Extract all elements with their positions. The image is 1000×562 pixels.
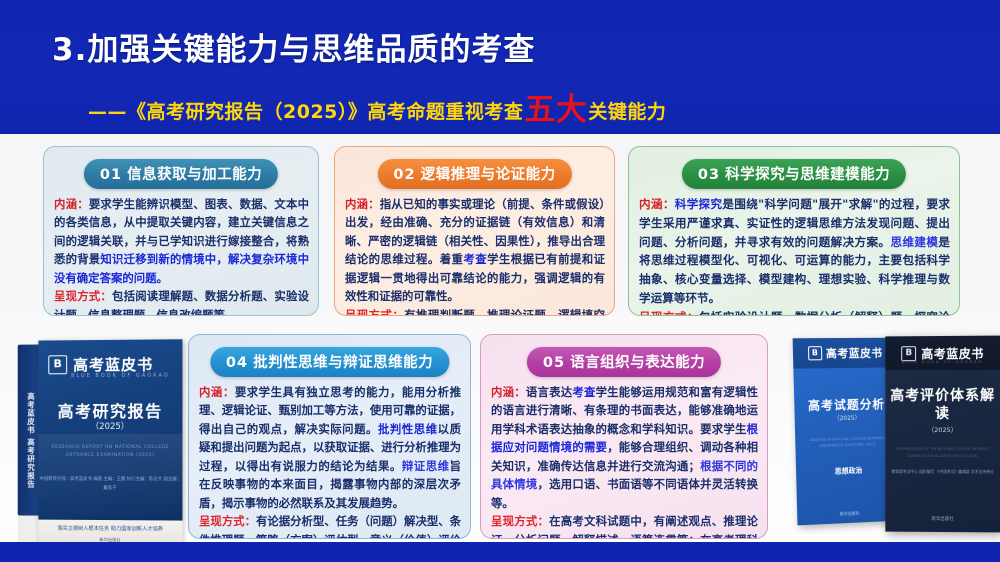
book-spine-text: 高考蓝皮书 高考研究报告 — [20, 392, 37, 489]
card-05-title: 语言组织与表达能力 — [570, 355, 705, 371]
card-05-connotation-highlight-0: 考查 — [572, 385, 595, 399]
subtitle-emphasis: 五大 — [524, 98, 587, 123]
card-05-number: 05 — [543, 355, 565, 371]
card-03-title: 科学探究与思维建模能力 — [725, 167, 890, 183]
header-band: 3.加强关键能力与思维品质的考查 ——《高考研究报告（2025）》高考命题重视考… — [0, 0, 1000, 134]
card-03-form: 呈现方式：包括实验设计题、数据分析（解释）题、探究论证题、问题解决（应用）题等。 — [639, 308, 950, 316]
book-year: （2025） — [38, 420, 182, 432]
card-03-connotation-highlight-2: 思维建模 — [890, 235, 938, 249]
card-05-form-label: 呈现方式： — [491, 514, 549, 528]
card-03-title-pill: 03科学探究与思维建模能力 — [682, 159, 906, 189]
card-03-number: 03 — [698, 167, 720, 183]
card-04-title-pill: 04批判性思维与辩证思维能力 — [210, 347, 449, 377]
book-brand-en: BLUE BOOK OF GAOKAO — [71, 373, 170, 380]
book-subject-label: 思想政治 — [796, 464, 900, 478]
card-02-connotation-highlight: 考查 — [463, 252, 487, 266]
card-03-connotation: 内涵：科学探究是围绕"科学问题"展开"求解"的过程，要求学生采用严谨求真、实证性… — [639, 195, 950, 308]
card-05-connotation-text: 语言表达 — [526, 385, 572, 399]
card-03-connotation-highlight: 科学探究 — [675, 197, 723, 211]
card-04-connotation-highlight: 批判性思维 — [378, 422, 438, 436]
book-brand-en: BLUE BOOK OF GAOKAO — [885, 360, 1000, 365]
card-04-body: 内涵：要求学生具有独立思考的能力，能用分析推理、逻辑论证、甄别加工等方法，使用可… — [199, 383, 461, 539]
blue-book-logo-icon: B — [808, 346, 822, 360]
book-spine-bottom — [18, 515, 39, 544]
page-title: 3.加强关键能力与思维品质的考查 — [52, 24, 535, 69]
card-01-connotation: 内涵：要求学生能辨识模型、图表、数据、文本中的各类信息，从中提取关键内容，建立关… — [54, 195, 309, 287]
card-02-connotation: 内涵：指从已知的事实或理论（前提、条件或假设）出发，经由准确、充分的证据链（有效… — [345, 195, 605, 306]
card-01-form: 呈现方式：包括阅读理解题、数据分析题、实验设计题、信息整理题、信息改编题等。 — [54, 287, 309, 316]
book-slogan: 落实立德树人根本任务 助力国家创新人才培养 — [38, 525, 182, 535]
blue-book-logo-icon: B — [901, 346, 916, 361]
book-brand-cn: 高考蓝皮书 — [826, 345, 883, 361]
card-04-form: 呈现方式：有论据分析型、任务（问题）解决型、条件推理题、策略（方案）评估型、意义… — [199, 512, 461, 539]
card-04-connotation: 内涵：要求学生具有独立思考的能力，能用分析推理、逻辑论证、甄别加工等方法，使用可… — [199, 383, 461, 512]
book-english-title: ANALYSIS OF NATIONAL COLLEGE ENTRANCE EX… — [799, 435, 895, 450]
card-05-connotation-label: 内涵： — [491, 385, 526, 399]
book-year: （2025） — [885, 424, 1000, 434]
card-02-title: 逻辑推理与论证能力 — [421, 167, 556, 183]
card-01-body: 内涵：要求学生能辨识模型、图表、数据、文本中的各类信息，从中提取关键内容，建立关… — [54, 195, 309, 316]
capability-card-03[interactable]: 03科学探究与思维建模能力 内涵：科学探究是围绕"科学问题"展开"求解"的过程，… — [628, 146, 960, 316]
card-02-form-label: 呈现方式： — [345, 308, 404, 316]
card-04-number: 04 — [226, 355, 248, 371]
book-front-cover: B 高考蓝皮书 BLUE BOOK OF GAOKAO 高考研究报告 （2025… — [38, 339, 182, 520]
card-04-form-label: 呈现方式： — [199, 514, 256, 528]
subtitle-suffix: 关键能力 — [588, 97, 666, 124]
blue-book-logo-icon: B — [48, 355, 67, 374]
card-05-connotation: 内涵：语言表达考查学生能够运用规范和富有逻辑性的语言进行清晰、有条理的书面表达，… — [491, 383, 758, 512]
book-author-line: 中国教育在线／高考蓝皮书 编著 主编：王鹏 执行主编：陈志文 副主编：戴家干 — [38, 476, 182, 494]
book-cover-evaluation-system: B 高考蓝皮书 BLUE BOOK OF GAOKAO 高考评价体系解读 （20… — [885, 336, 1000, 533]
book-year: （2025） — [795, 412, 899, 423]
book-english-title: RESEARCH REPORT ON NATIONAL COLLEGE ENTR… — [38, 444, 182, 461]
capability-card-05[interactable]: 05语言组织与表达能力 内涵：语言表达考查学生能够运用规范和富有逻辑性的语言进行… — [480, 334, 768, 539]
card-01-title: 信息获取与加工能力 — [127, 167, 262, 183]
page-subtitle: ——《高考研究报告（2025）》高考命题重视考查五大关键能力 — [88, 96, 666, 124]
card-02-connotation-label: 内涵： — [345, 197, 380, 211]
card-02-number: 02 — [393, 167, 415, 183]
card-02-form: 呈现方式：有推理判断题、推理论证题、逻辑填空题、评估分析题、开放式问题等。 — [345, 306, 605, 316]
capability-card-04[interactable]: 04批判性思维与辩证思维能力 内涵：要求学生具有独立思考的能力，能用分析推理、逻… — [188, 334, 471, 539]
book-brand-row: B 高考蓝皮书 — [885, 336, 1000, 371]
slide-root: 3.加强关键能力与思维品质的考查 ——《高考研究报告（2025）》高考命题重视考… — [0, 0, 1000, 562]
card-02-body: 内涵：指从已知的事实或理论（前提、条件或假设）出发，经由准确、充分的证据链（有效… — [345, 195, 605, 316]
card-04-connotation-label: 内涵： — [199, 385, 235, 399]
card-05-form: 呈现方式：在高考文科试题中，有阐述观点、推理论证、分析问题、解释描述、语篇连贯等… — [491, 512, 758, 539]
capability-card-01[interactable]: 01信息获取与加工能力 内涵：要求学生能辨识模型、图表、数据、文本中的各类信息，… — [43, 146, 319, 316]
card-03-form-label: 呈现方式： — [639, 310, 699, 316]
subtitle-prefix: ——《高考研究报告（2025）》高考命题重视考查 — [88, 97, 523, 124]
book-cover-research-report: 高考蓝皮书 高考研究报告 B 高考蓝皮书 BLUE BOOK OF GAOKAO… — [18, 339, 183, 545]
card-03-connotation-label: 内涵： — [639, 197, 675, 211]
card-01-connotation-label: 内涵： — [54, 197, 89, 211]
card-05-body: 内涵：语言表达考查学生能够运用规范和富有逻辑性的语言进行清晰、有条理的书面表达，… — [491, 383, 758, 539]
card-04-connotation-highlight-2: 辩证思维 — [402, 459, 450, 473]
footer-band — [0, 542, 1000, 562]
capability-card-02[interactable]: 02逻辑推理与论证能力 内涵：指从已知的事实或理论（前提、条件或假设）出发，经由… — [334, 146, 615, 316]
book-brand-row: B 高考蓝皮书 — [793, 338, 898, 369]
card-03-body: 内涵：科学探究是围绕"科学问题"展开"求解"的过程，要求学生采用严谨求真、实证性… — [639, 195, 950, 316]
card-02-title-pill: 02逻辑推理与论证能力 — [377, 159, 571, 189]
book-title: 高考研究报告 — [38, 398, 182, 422]
card-04-title: 批判性思维与辩证思维能力 — [253, 355, 433, 371]
card-05-title-pill: 05语言组织与表达能力 — [527, 347, 721, 377]
card-01-number: 01 — [100, 167, 122, 183]
card-01-title-pill: 01信息获取与加工能力 — [84, 159, 278, 189]
book-author-line: 教育部考试中心 组织编写 《中国考试》编辑部 学术支持单位 — [885, 468, 1000, 476]
book-english-title: INTERPRETATION OF THE NATIONAL COLLEGE E… — [891, 446, 994, 459]
book-press: 新华出版社 — [885, 516, 1000, 523]
card-01-form-label: 呈现方式： — [54, 289, 112, 303]
book-title: 高考评价体系解读 — [885, 388, 1000, 423]
